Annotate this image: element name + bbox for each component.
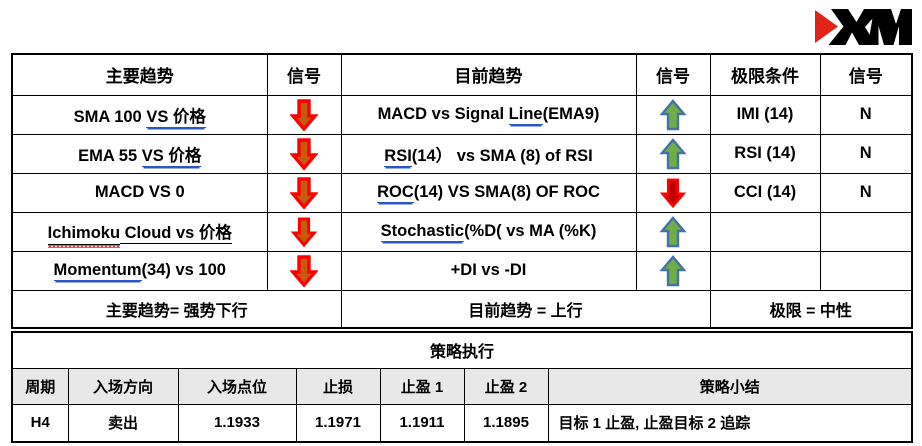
cell-major-signal: [267, 95, 341, 134]
cell-extreme-signal: N: [820, 173, 912, 212]
arrow-down-icon: [290, 255, 318, 287]
cell-direction: 卖出: [68, 404, 178, 442]
arrow-down-icon: [290, 99, 318, 131]
major-trend-plain: EMA 55: [78, 147, 142, 165]
cell-timeframe: H4: [12, 404, 68, 442]
logo-wordmark: [829, 9, 913, 45]
arrow-up-icon: [659, 138, 687, 170]
cell-extreme-signal: [820, 251, 912, 290]
cell-major-signal: [267, 134, 341, 173]
major-trend-underlined: Momentum: [54, 261, 142, 281]
table-row: Ichimoku Cloud vs 价格 Stochastic(%D( vs M…: [12, 212, 912, 251]
strategy-data-row: H4 卖出 1.1933 1.1971 1.1911 1.1895 目标 1 止…: [12, 404, 912, 442]
cell-current-signal: [636, 212, 710, 251]
xm-logo: [812, 4, 912, 48]
cell-entry: 1.1933: [178, 404, 296, 442]
summary-current-trend: 目前趋势 = 上行: [341, 290, 710, 328]
cell-strategy-summary: 目标 1 止盈, 止盈目标 2 追踪: [548, 404, 912, 442]
cell-current-signal: [636, 251, 710, 290]
strategy-title-row: 策略执行: [12, 332, 912, 368]
strategy-header-row: 周期 入场方向 入场点位 止损 止盈 1 止盈 2 策略小结: [12, 368, 912, 404]
current-trend-pre: MACD vs Signal: [378, 105, 509, 123]
cell-extreme-condition: [710, 212, 820, 251]
header-entry: 入场点位: [178, 368, 296, 404]
current-trend-post: (14) VS SMA(8) OF ROC: [414, 183, 600, 201]
cell-major-trend: EMA 55 VS 价格: [12, 134, 267, 173]
arrow-up-icon: [659, 216, 687, 248]
cell-extreme-condition: IMI (14): [710, 95, 820, 134]
table-row: SMA 100 VS 价格 MACD vs Signal Line(EMA9) …: [12, 95, 912, 134]
cell-current-trend: ROC(14) VS SMA(8) OF ROC: [341, 173, 636, 212]
table-row: MACD VS 0 ROC(14) VS SMA(8) OF ROC CCI (…: [12, 173, 912, 212]
header-take-profit-2: 止盈 2: [464, 368, 548, 404]
cell-extreme-condition: CCI (14): [710, 173, 820, 212]
major-trend-post: (34) vs 100: [142, 261, 226, 279]
arrow-down-icon: [291, 216, 317, 248]
arrow-down-icon: [290, 177, 318, 209]
arrow-down-icon: [660, 177, 686, 209]
header-direction: 入场方向: [68, 368, 178, 404]
header-major-trend: 主要趋势: [12, 54, 267, 95]
header-major-signal: 信号: [267, 54, 341, 95]
strategy-title: 策略执行: [12, 332, 912, 368]
table-row: EMA 55 VS 价格 RSI(14） vs SMA (8) of RSI R…: [12, 134, 912, 173]
cell-extreme-signal: N: [820, 134, 912, 173]
summary-major-trend: 主要趋势= 强势下行: [12, 290, 341, 328]
cell-major-signal: [267, 173, 341, 212]
cell-major-signal: [267, 212, 341, 251]
current-trend-underlined: Stochastic: [381, 222, 464, 242]
cell-current-trend: RSI(14） vs SMA (8) of RSI: [341, 134, 636, 173]
cell-current-signal: [636, 173, 710, 212]
cell-extreme-signal: N: [820, 95, 912, 134]
cell-major-trend: MACD VS 0: [12, 173, 267, 212]
cell-current-trend: +DI vs -DI: [341, 251, 636, 290]
analysis-table: 主要趋势 信号 目前趋势 信号 极限条件 信号 SMA 100 VS 价格 MA…: [11, 53, 913, 329]
major-trend-spellchecked: Ichimoku: [48, 224, 120, 245]
screenshot-root: 主要趋势 信号 目前趋势 信号 极限条件 信号 SMA 100 VS 价格 MA…: [0, 0, 922, 446]
header-current-trend: 目前趋势: [341, 54, 636, 95]
cell-take-profit-2: 1.1895: [464, 404, 548, 442]
analysis-header-row: 主要趋势 信号 目前趋势 信号 极限条件 信号: [12, 54, 912, 95]
cell-major-signal: [267, 251, 341, 290]
header-take-profit-1: 止盈 1: [380, 368, 464, 404]
cell-major-trend: Ichimoku Cloud vs 价格: [12, 212, 267, 251]
cell-extreme-condition: [710, 251, 820, 290]
arrow-down-icon: [290, 138, 318, 170]
arrow-up-icon: [659, 255, 687, 287]
major-trend-underlined: Cloud vs 价格: [120, 224, 232, 244]
arrow-up-icon: [659, 99, 687, 131]
strategy-table: 策略执行 周期 入场方向 入场点位 止损 止盈 1 止盈 2 策略小结 H4 卖…: [11, 331, 913, 443]
current-trend-post: (%D( vs MA (%K): [464, 222, 596, 240]
cell-major-trend: SMA 100 VS 价格: [12, 95, 267, 134]
header-stop-loss: 止损: [296, 368, 380, 404]
analysis-summary-row: 主要趋势= 强势下行 目前趋势 = 上行 极限 = 中性: [12, 290, 912, 328]
table-row: Momentum(34) vs 100 +DI vs -DI: [12, 251, 912, 290]
cell-stop-loss: 1.1971: [296, 404, 380, 442]
header-extreme-condition: 极限条件: [710, 54, 820, 95]
cell-extreme-signal: [820, 212, 912, 251]
current-trend-underlined: ROC: [377, 183, 414, 203]
header-extreme-signal: 信号: [820, 54, 912, 95]
current-trend-underlined: Line: [509, 105, 543, 125]
cell-current-signal: [636, 95, 710, 134]
cell-take-profit-1: 1.1911: [380, 404, 464, 442]
cell-current-signal: [636, 134, 710, 173]
current-trend-underlined: RSI: [384, 147, 412, 167]
xm-logo-svg: [812, 4, 912, 47]
cell-extreme-condition: RSI (14): [710, 134, 820, 173]
current-trend-post: (EMA9): [543, 105, 600, 123]
major-trend-underlined: VS 价格: [142, 147, 202, 167]
header-strategy-summary: 策略小结: [548, 368, 912, 404]
major-trend-underlined: VS 价格: [146, 108, 206, 128]
cell-current-trend: MACD vs Signal Line(EMA9): [341, 95, 636, 134]
major-trend-plain: SMA 100: [74, 108, 147, 126]
cell-current-trend: Stochastic(%D( vs MA (%K): [341, 212, 636, 251]
header-timeframe: 周期: [12, 368, 68, 404]
header-current-signal: 信号: [636, 54, 710, 95]
summary-extreme: 极限 = 中性: [710, 290, 912, 328]
current-trend-post: (14） vs SMA (8) of RSI: [412, 147, 593, 165]
cell-major-trend: Momentum(34) vs 100: [12, 251, 267, 290]
